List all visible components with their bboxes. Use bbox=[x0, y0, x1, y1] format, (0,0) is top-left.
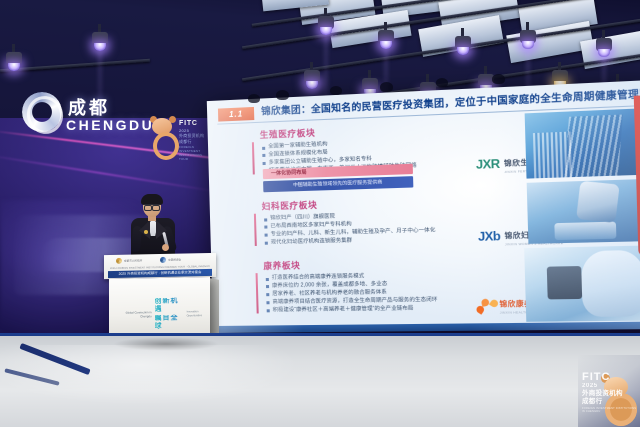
audience-silhouette bbox=[436, 78, 448, 87]
logo-mark: JXb bbox=[478, 228, 501, 243]
watermark-line-en: FOREIGN INVESTMENT INSTITUTIONS IN CHENG… bbox=[582, 407, 640, 413]
podium-slogan-cn-top: 创新机遇 bbox=[155, 297, 184, 314]
section-callout-block: 一体化协同布局 中国辅助生殖领域领先的医疗服务提供商 bbox=[263, 164, 414, 193]
corner-watermark: FITC 2025 外商投资机构 成都行 FOREIGN INVESTMENT … bbox=[578, 355, 640, 427]
section-heading: 康养板块 bbox=[263, 256, 469, 272]
section-bullet: 积极建设“康养社区＋高端养老＋健康管理”的全产业链布局 bbox=[267, 304, 471, 313]
government-seal-icon bbox=[116, 258, 122, 264]
podium-slogan-en-right-bottom: Opportunities bbox=[187, 314, 202, 318]
watermark-year: 2025 bbox=[582, 383, 640, 390]
podium-header-panel: 成都市人民政府 中国贸促会 2025 FOREIGN INVESTMENT IN… bbox=[104, 253, 216, 279]
slide-canvas: 1.1 锦欣集团：全国知名的民营医疗投资集团，定位于中国家庭的全生命周期健康管理… bbox=[207, 80, 640, 333]
podium-slogan: Global Connection in Chengdu 创新机遇 瞩目全球 I… bbox=[117, 297, 202, 332]
bullet-text: 锦欣妇产（四川）旗舰医院 bbox=[270, 213, 335, 221]
bullet-square-icon bbox=[267, 309, 270, 312]
logo-mark: JXR bbox=[476, 156, 500, 171]
laboratory-microscope-photo bbox=[527, 179, 640, 244]
event-acronym: FITC bbox=[179, 120, 206, 127]
podium-logo-ccpit: 中国贸促会 bbox=[160, 257, 181, 263]
conference-stage-photo: 成都 CHENGDU FITC 2025 外商投资机构 成都行 FOREIGN … bbox=[0, 0, 640, 427]
watermark-line-cn2: 成都行 bbox=[582, 398, 640, 406]
speaker-hand bbox=[162, 244, 169, 251]
panda-icon bbox=[150, 118, 176, 154]
bullet-square-icon bbox=[265, 234, 268, 237]
watermark-acronym: FITC bbox=[582, 372, 640, 383]
podium-slogan-cn: 创新机遇 瞩目全球 bbox=[155, 297, 184, 331]
podium-logo-government: 成都市人民政府 bbox=[116, 257, 142, 264]
bullet-square-icon bbox=[263, 162, 266, 165]
audience-silhouette bbox=[276, 90, 289, 100]
bullet-square-icon bbox=[266, 285, 269, 288]
event-badge-wall: FITC 2025 外商投资机构 成都行 FOREIGN INVESTMENT … bbox=[150, 114, 206, 160]
slide-section-gynecology: 妇科医疗板块 锦欣妇产（四川）旗舰医院 已布局西南地区多家妇产专科机构 专业的妇… bbox=[254, 194, 469, 247]
bullet-text: 高端康养项目结合医疗资源，打造全生命周期产品与服务的生态闭环 bbox=[272, 296, 437, 305]
watermark-line-cn: 外商投资机构 bbox=[582, 390, 640, 398]
bullet-text: 打造医养结合的高端康养连锁服务模式 bbox=[272, 273, 365, 281]
bullet-square-icon bbox=[262, 146, 265, 149]
chengdu-name-en: CHENGDU bbox=[66, 117, 154, 133]
bullet-square-icon bbox=[266, 277, 269, 280]
podium-shadow bbox=[96, 336, 236, 352]
nurse-with-phone-photo bbox=[524, 245, 640, 322]
bullet-square-icon bbox=[262, 154, 265, 157]
bullet-text: 现代化妇幼医疗机构连锁服务集群 bbox=[271, 237, 353, 245]
bullet-text: 已布局西南地区多家妇产专科机构 bbox=[270, 221, 352, 230]
podium-logo-right-label: 中国贸促会 bbox=[168, 258, 181, 261]
bullet-square-icon bbox=[264, 226, 267, 229]
audience-silhouette bbox=[492, 74, 505, 84]
bullet-text: 居家养老、社区养老与机构养老的融合服务体系 bbox=[272, 289, 387, 297]
lapel-pin-icon bbox=[144, 230, 148, 234]
bullet-square-icon bbox=[266, 293, 269, 296]
led-presentation-screen: 1.1 锦欣集团：全国知名的民营医疗投资集团，定位于中国家庭的全生命周期健康管理… bbox=[207, 80, 640, 333]
bullet-text: 积极建设“康养社区＋高端养老＋健康管理”的全产业链布局 bbox=[273, 305, 414, 313]
audience-silhouette bbox=[330, 86, 342, 95]
watermark-text: FITC 2025 外商投资机构 成都行 FOREIGN INVESTMENT … bbox=[582, 372, 640, 413]
podium-slogan-en-right: Innovation Opportunities bbox=[187, 310, 202, 317]
office-tower-photo bbox=[525, 108, 640, 179]
bullet-square-icon bbox=[265, 242, 268, 245]
bullet-text: 康养床位约 2,000 余张，覆盖成都多地、多业态 bbox=[272, 281, 387, 289]
event-line-en: FOREIGN INVESTMENT INSTITUTIONS TOUR bbox=[179, 145, 206, 161]
podium-slogan-en-left: Global Connection in Chengdu bbox=[117, 311, 152, 319]
chengdu-ring-logo bbox=[22, 92, 62, 132]
bullet-square-icon bbox=[266, 301, 269, 304]
ccpit-seal-icon bbox=[160, 257, 166, 263]
podium-logo-row: 成都市人民政府 中国贸促会 bbox=[116, 257, 181, 264]
slide-section-wellness: 康养板块 打造医养结合的高端康养连锁服务模式 康养床位约 2,000 余张，覆盖… bbox=[255, 256, 470, 315]
callout-secondary: 中国辅助生殖领域领先的医疗服务提供商 bbox=[263, 176, 413, 192]
podium-slogan-cn-bottom: 瞩目全球 bbox=[155, 314, 184, 331]
audience-silhouette bbox=[380, 82, 393, 92]
slide-section-number: 1.1 bbox=[218, 107, 254, 122]
glasses-icon bbox=[144, 204, 160, 209]
podium-logo-left-label: 成都市人民政府 bbox=[124, 259, 142, 262]
petal-flower-icon bbox=[478, 298, 496, 311]
bullet-square-icon bbox=[264, 218, 267, 221]
speaker-presenter bbox=[131, 196, 175, 258]
audience-silhouette bbox=[248, 94, 260, 103]
